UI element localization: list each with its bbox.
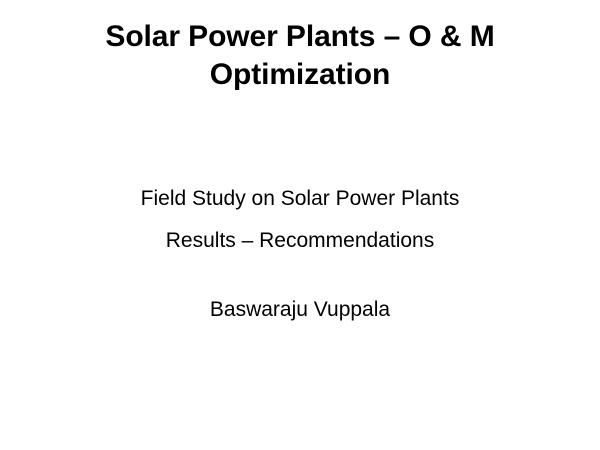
subtitle-block: Field Study on Solar Power Plants Result…	[40, 178, 560, 262]
title-block: Solar Power Plants – O & M Optimization	[70, 18, 530, 94]
subtitle-line-2: Results – Recommendations	[40, 220, 560, 262]
author-block: Baswaraju Vuppala	[40, 295, 560, 325]
page-title: Solar Power Plants – O & M Optimization	[70, 18, 530, 94]
author-name: Baswaraju Vuppala	[40, 295, 560, 325]
presentation-title-slide: Solar Power Plants – O & M Optimization …	[0, 0, 600, 450]
subtitle-line-1: Field Study on Solar Power Plants	[40, 178, 560, 220]
